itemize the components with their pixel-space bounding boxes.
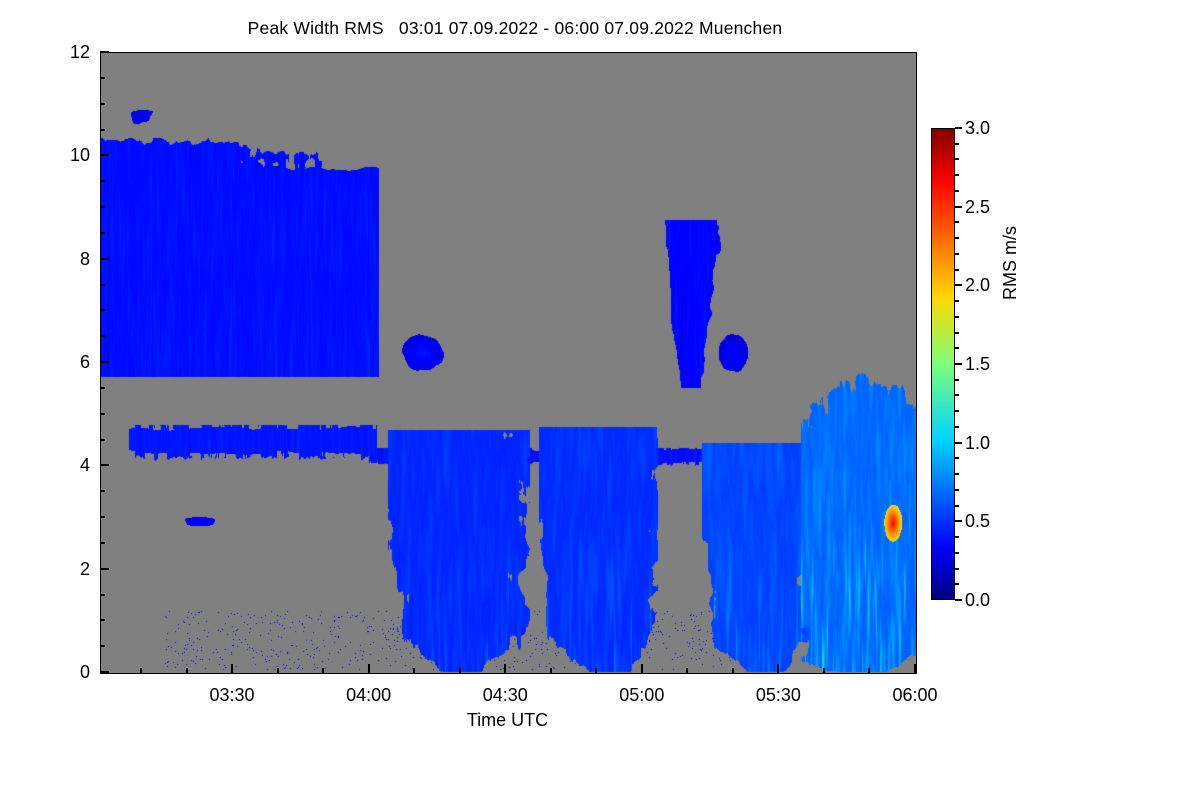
y-tick-minor <box>100 387 105 389</box>
y-tick-label: 12 <box>50 43 90 61</box>
y-tick-minor <box>100 284 105 286</box>
x-tick-label: 06:00 <box>875 686 955 704</box>
colorbar-tick-minor <box>955 237 959 239</box>
colorbar-gradient <box>931 128 955 600</box>
x-tick-major <box>504 664 506 673</box>
y-tick-minor <box>100 594 105 596</box>
y-tick-major <box>100 361 109 363</box>
y-tick-label: 2 <box>50 560 90 578</box>
y-tick-label: 8 <box>50 250 90 268</box>
heatmap-canvas <box>101 53 916 673</box>
x-axis-title: Time UTC <box>100 710 915 731</box>
y-tick-minor <box>100 129 105 131</box>
colorbar-tick-minor <box>955 316 959 318</box>
y-tick-minor <box>100 309 105 311</box>
colorbar-tick-major <box>955 442 962 444</box>
colorbar-tick-minor <box>955 536 959 538</box>
y-tick-minor <box>100 206 105 208</box>
plot-area <box>100 52 917 674</box>
x-tick-label: 03:30 <box>192 686 272 704</box>
colorbar-tick-minor <box>955 457 959 459</box>
colorbar-tick-label: 3.0 <box>965 119 990 137</box>
y-tick-minor <box>100 645 105 647</box>
y-tick-minor <box>100 516 105 518</box>
colorbar-tick-minor <box>955 426 959 428</box>
colorbar-tick-major <box>955 127 962 129</box>
x-tick-minor <box>322 668 324 673</box>
y-tick-minor <box>100 490 105 492</box>
y-tick-major <box>100 671 109 673</box>
colorbar <box>931 128 955 600</box>
y-tick-label: 10 <box>50 146 90 164</box>
colorbar-tick-label: 2.5 <box>965 198 990 216</box>
colorbar-tick-minor <box>955 583 959 585</box>
x-tick-minor <box>686 668 688 673</box>
colorbar-tick-major <box>955 363 962 365</box>
colorbar-tick-minor <box>955 473 959 475</box>
x-tick-major <box>641 664 643 673</box>
colorbar-tick-minor <box>955 552 959 554</box>
x-tick-major <box>777 664 779 673</box>
colorbar-tick-minor <box>955 143 959 145</box>
colorbar-tick-minor <box>955 174 959 176</box>
x-tick-major <box>231 664 233 673</box>
x-tick-minor <box>277 668 279 673</box>
y-tick-minor <box>100 335 105 337</box>
y-tick-minor <box>100 439 105 441</box>
colorbar-tick-minor <box>955 190 959 192</box>
figure-canvas: Peak Width RMS 03:01 07.09.2022 - 06:00 … <box>0 0 1200 800</box>
colorbar-tick-label: 1.5 <box>965 355 990 373</box>
x-tick-minor <box>823 668 825 673</box>
colorbar-tick-label: 0.0 <box>965 591 990 609</box>
colorbar-tick-minor <box>955 379 959 381</box>
x-tick-minor <box>413 668 415 673</box>
colorbar-tick-minor <box>955 253 959 255</box>
colorbar-tick-major <box>955 284 962 286</box>
colorbar-tick-minor <box>955 269 959 271</box>
y-tick-major <box>100 258 109 260</box>
colorbar-tick-minor <box>955 221 959 223</box>
y-tick-major <box>100 51 109 53</box>
y-tick-minor <box>100 542 105 544</box>
y-tick-minor <box>100 413 105 415</box>
y-tick-label: 4 <box>50 456 90 474</box>
colorbar-tick-minor <box>955 505 959 507</box>
colorbar-tick-major <box>955 520 962 522</box>
x-tick-label: 04:30 <box>465 686 545 704</box>
x-tick-major <box>368 664 370 673</box>
x-tick-minor <box>459 668 461 673</box>
x-tick-label: 05:00 <box>602 686 682 704</box>
colorbar-tick-minor <box>955 568 959 570</box>
x-tick-minor <box>550 668 552 673</box>
y-tick-label: 6 <box>50 353 90 371</box>
colorbar-tick-major <box>955 206 962 208</box>
x-tick-label: 04:00 <box>329 686 409 704</box>
x-tick-minor <box>595 668 597 673</box>
colorbar-tick-minor <box>955 347 959 349</box>
x-tick-minor <box>732 668 734 673</box>
x-tick-minor <box>140 668 142 673</box>
y-tick-major <box>100 154 109 156</box>
x-tick-label: 05:30 <box>738 686 818 704</box>
y-tick-minor <box>100 232 105 234</box>
y-tick-label: 0 <box>50 663 90 681</box>
colorbar-tick-minor <box>955 158 959 160</box>
chart-title: Peak Width RMS 03:01 07.09.2022 - 06:00 … <box>0 18 1030 39</box>
x-tick-minor <box>186 668 188 673</box>
colorbar-tick-minor <box>955 410 959 412</box>
colorbar-tick-minor <box>955 300 959 302</box>
colorbar-tick-label: 2.0 <box>965 276 990 294</box>
colorbar-tick-minor <box>955 489 959 491</box>
colorbar-tick-minor <box>955 394 959 396</box>
y-tick-minor <box>100 77 105 79</box>
colorbar-tick-minor <box>955 332 959 334</box>
x-tick-major <box>914 664 916 673</box>
y-tick-minor <box>100 619 105 621</box>
y-tick-major <box>100 568 109 570</box>
colorbar-axis-title: RMS m/s <box>1000 226 1021 300</box>
y-tick-minor <box>100 103 105 105</box>
y-tick-major <box>100 464 109 466</box>
colorbar-tick-label: 0.5 <box>965 512 990 530</box>
colorbar-tick-major <box>955 599 962 601</box>
colorbar-tick-label: 1.0 <box>965 434 990 452</box>
y-tick-minor <box>100 180 105 182</box>
x-tick-minor <box>868 668 870 673</box>
